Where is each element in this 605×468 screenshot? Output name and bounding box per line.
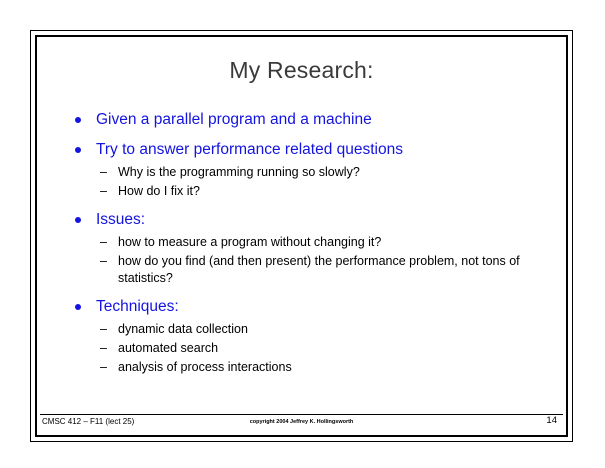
bullet-level2-label: how do you find (and then present) the p… xyxy=(118,253,548,287)
bullet-level2: – Why is the programming running so slow… xyxy=(69,164,548,181)
dash-marker-icon: – xyxy=(100,340,111,357)
bullet-level2: – automated search xyxy=(69,340,548,357)
bullet-level2-label: dynamic data collection xyxy=(118,321,548,338)
bullet-level1-label: Techniques: xyxy=(96,298,179,315)
bullet-level1: Given a parallel program and a machine xyxy=(69,110,548,130)
bullet-level1: Techniques: xyxy=(69,297,548,317)
bullet-level2: – how do you find (and then present) the… xyxy=(69,253,548,287)
spacer xyxy=(69,201,548,210)
bullet-level1: Try to answer performance related questi… xyxy=(69,140,548,160)
bullet-level2-label: Why is the programming running so slowly… xyxy=(118,164,548,181)
bullet-dot-icon xyxy=(75,117,81,123)
bullet-level2-label: How do I fix it? xyxy=(118,183,548,200)
bullet-level2-label: analysis of process interactions xyxy=(118,359,548,376)
spacer xyxy=(69,288,548,297)
bullet-level2-label: how to measure a program without changin… xyxy=(118,234,548,251)
bullet-dot-icon xyxy=(75,304,81,310)
bullet-level1-label: Issues: xyxy=(96,211,145,228)
slide-title: My Research: xyxy=(37,56,566,84)
slide-body: My Research: Given a parallel program an… xyxy=(37,37,566,435)
bullet-level2: – How do I fix it? xyxy=(69,183,548,200)
slide-inner-border: My Research: Given a parallel program an… xyxy=(35,35,568,437)
bullet-group-3: Issues: – how to measure a program witho… xyxy=(69,210,548,287)
bullet-group-2: Try to answer performance related questi… xyxy=(69,140,548,200)
bullet-level2: – dynamic data collection xyxy=(69,321,548,338)
dash-marker-icon: – xyxy=(100,183,111,200)
bullet-level2-label: automated search xyxy=(118,340,548,357)
bullet-level2: – how to measure a program without chang… xyxy=(69,234,548,251)
footer-copyright: copyright 2004 Jeffrey K. Hollingsworth xyxy=(40,418,563,426)
bullet-dot-icon xyxy=(75,217,81,223)
dash-marker-icon: – xyxy=(100,234,111,251)
bullet-dot-icon xyxy=(75,147,81,153)
bullet-level1-label: Given a parallel program and a machine xyxy=(96,111,372,128)
footer-page-number: 14 xyxy=(546,415,557,427)
bullet-level1: Issues: xyxy=(69,210,548,230)
bullet-group-1: Given a parallel program and a machine xyxy=(69,110,548,130)
slide-content-list: Given a parallel program and a machine T… xyxy=(69,110,548,377)
dash-marker-icon: – xyxy=(100,359,111,376)
bullet-level1-label: Try to answer performance related questi… xyxy=(96,141,403,158)
bullet-group-4: Techniques: – dynamic data collection – … xyxy=(69,297,548,376)
slide-footer: CMSC 412 – F11 (lect 25) copyright 2004 … xyxy=(40,415,563,432)
dash-marker-icon: – xyxy=(100,321,111,338)
dash-marker-icon: – xyxy=(100,164,111,181)
bullet-level2: – analysis of process interactions xyxy=(69,359,548,376)
dash-marker-icon: – xyxy=(100,253,111,270)
slide-outer-border: My Research: Given a parallel program an… xyxy=(30,30,573,442)
